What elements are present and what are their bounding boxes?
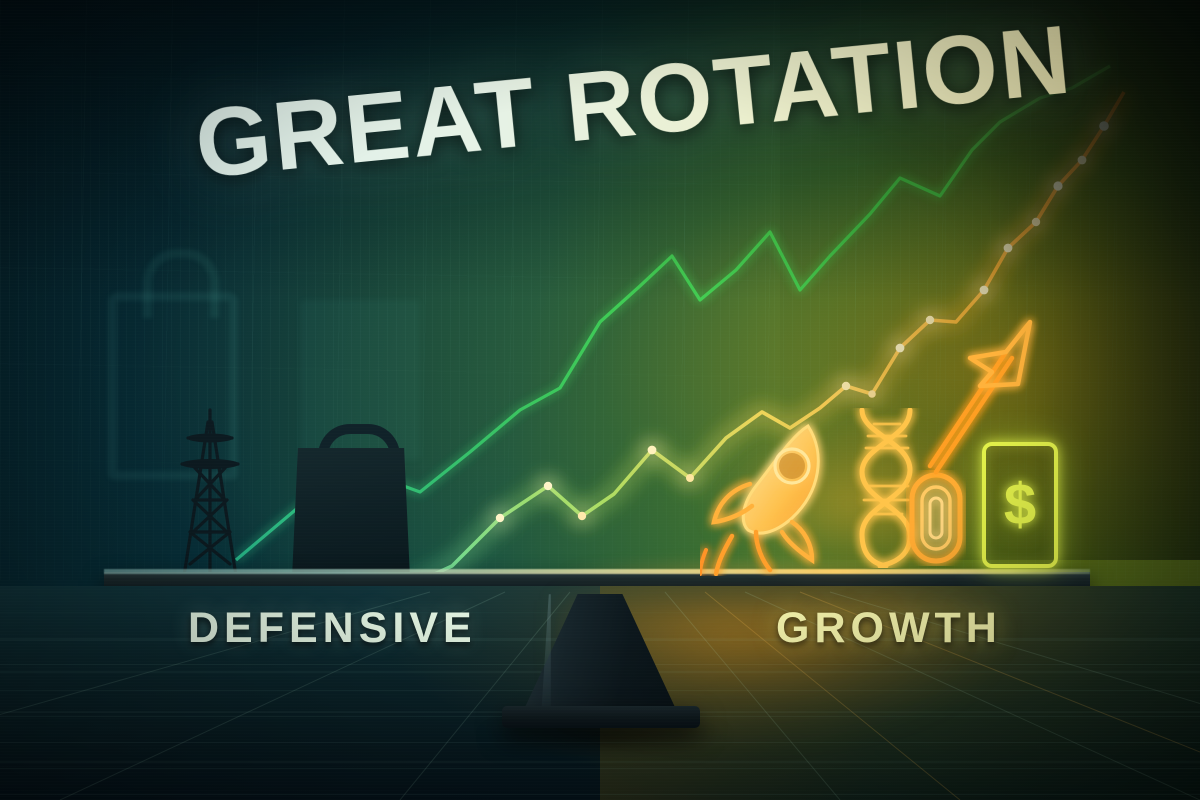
vignette bbox=[0, 0, 1200, 800]
great-rotation-illustration: GREAT ROTATION bbox=[0, 0, 1200, 800]
